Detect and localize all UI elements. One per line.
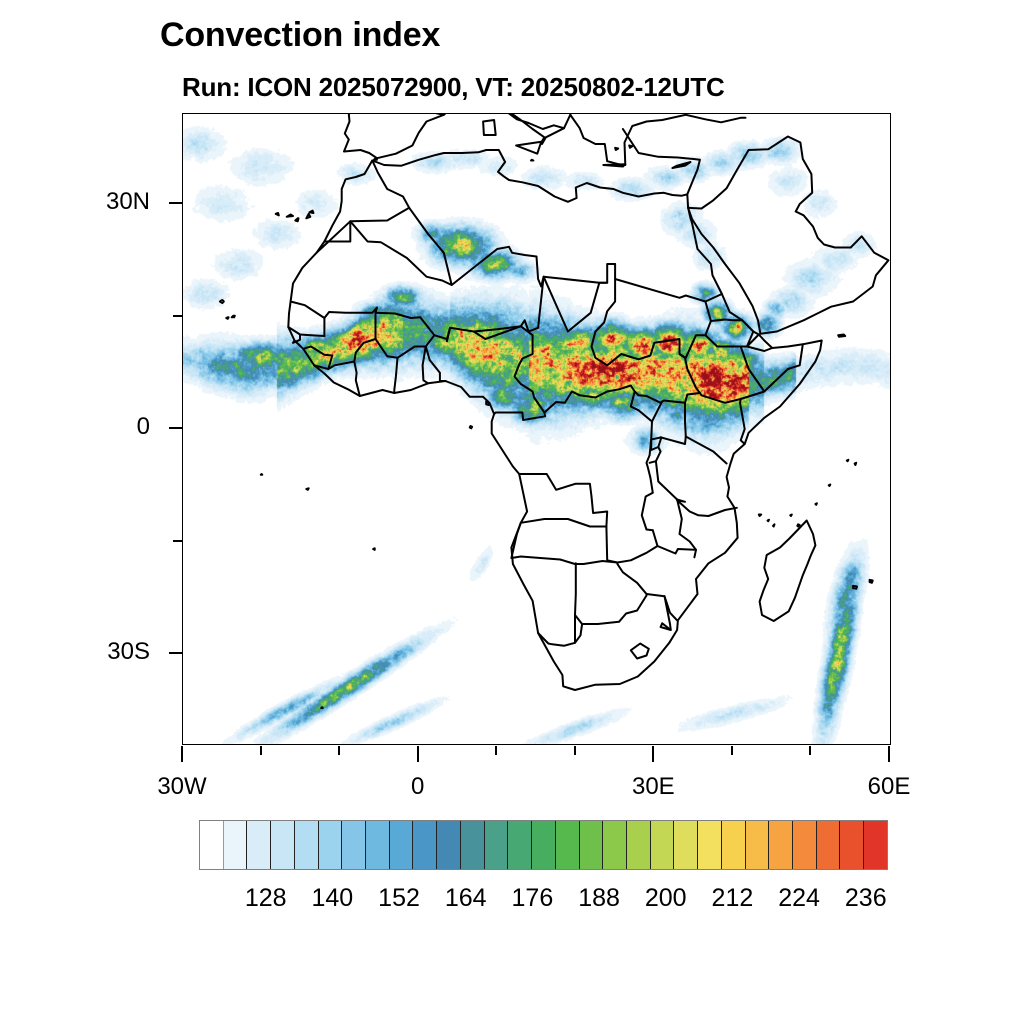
colorbar-cell [840, 821, 864, 869]
colorbar-cell [461, 821, 485, 869]
colorbar-cell [793, 821, 817, 869]
colorbar-cell [817, 821, 841, 869]
colorbar-cell [342, 821, 366, 869]
y-axis-label-0: 0 [30, 413, 150, 441]
colorbar-cell [247, 821, 271, 869]
x-tick-minor [574, 746, 576, 755]
colorbar-cell [556, 821, 580, 869]
colorbar-cell [769, 821, 793, 869]
colorbar-cell [319, 821, 343, 869]
colorbar-cell [746, 821, 770, 869]
colorbar-cell [651, 821, 675, 869]
colorbar-cell [485, 821, 509, 869]
colorbar-cell [580, 821, 604, 869]
x-tick-minor [809, 746, 811, 755]
x-tick-minor [731, 746, 733, 755]
x-tick-major [417, 746, 419, 762]
colorbar-cell [437, 821, 461, 869]
y-tick-minor [173, 540, 182, 542]
colorbar-label-236: 236 [821, 884, 911, 913]
run-valid-time-subtitle: Run: ICON 2025072900, VT: 20250802-12UTC [182, 72, 725, 103]
colorbar[interactable] [199, 820, 888, 870]
colorbar-cell [698, 821, 722, 869]
colorbar-cell [864, 821, 887, 869]
colorbar-cell [200, 821, 224, 869]
country-borders-overlay [183, 114, 890, 744]
page-title: Convection index [160, 16, 440, 55]
weather-map-figure: Convection index Run: ICON 2025072900, V… [0, 0, 1024, 1024]
x-axis-label-60E: 60E [819, 773, 959, 801]
colorbar-cell [508, 821, 532, 869]
x-axis-label-30E: 30E [583, 773, 723, 801]
x-axis-label-0: 0 [348, 773, 488, 801]
y-tick-major [169, 427, 182, 429]
y-tick-major [169, 202, 182, 204]
colorbar-cell [674, 821, 698, 869]
colorbar-cell [366, 821, 390, 869]
colorbar-cell [295, 821, 319, 869]
x-tick-major [181, 746, 183, 762]
y-axis-label-30N: 30N [30, 188, 150, 216]
colorbar-cell [627, 821, 651, 869]
y-axis-label-30S: 30S [30, 638, 150, 666]
x-axis-label-30W: 30W [112, 773, 252, 801]
y-tick-major [169, 652, 182, 654]
x-tick-minor [338, 746, 340, 755]
colorbar-cell [603, 821, 627, 869]
colorbar-cell [413, 821, 437, 869]
colorbar-cell [224, 821, 248, 869]
x-tick-minor [495, 746, 497, 755]
x-tick-minor [260, 746, 262, 755]
y-tick-minor [173, 315, 182, 317]
x-tick-major [652, 746, 654, 762]
map-plot-area [182, 113, 891, 745]
colorbar-cell [722, 821, 746, 869]
colorbar-cell [271, 821, 295, 869]
x-tick-major [888, 746, 890, 762]
colorbar-cell [390, 821, 414, 869]
colorbar-cell [532, 821, 556, 869]
